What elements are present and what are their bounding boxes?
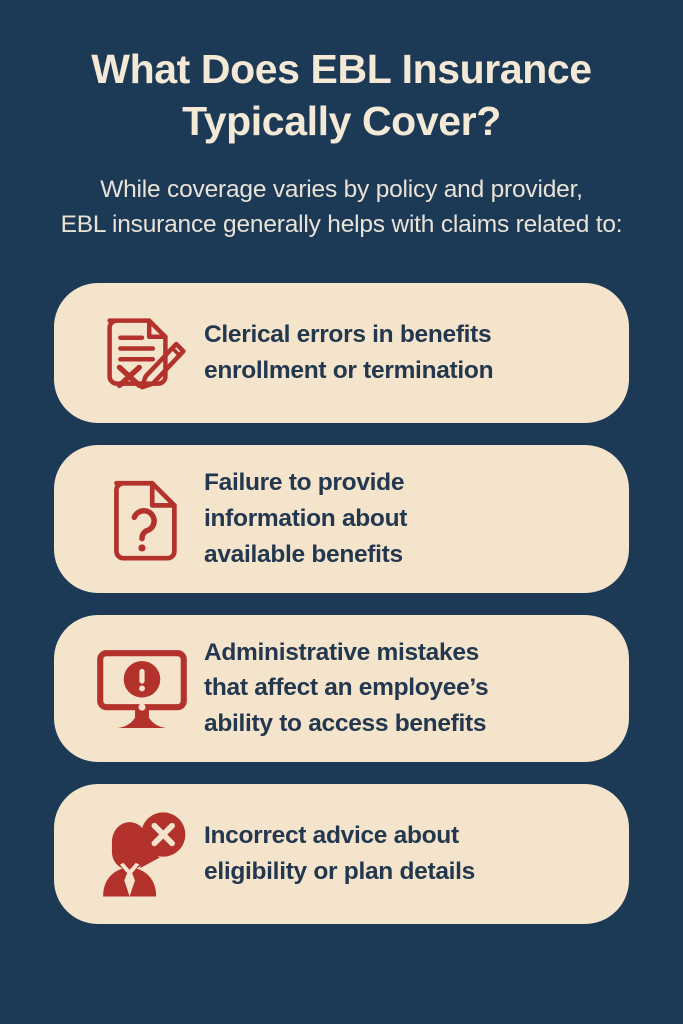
monitor-alert-icon bbox=[94, 640, 190, 736]
page-subtitle: While coverage varies by policy and prov… bbox=[32, 173, 652, 243]
person-speech-error-icon bbox=[94, 806, 190, 902]
coverage-card-text: Clerical errors in benefits enrollment o… bbox=[204, 317, 493, 389]
coverage-card-administrative-mistakes: Administrative mistakes that affect an e… bbox=[54, 615, 629, 762]
coverage-card-failure-to-provide-info: Failure to provide information about ava… bbox=[54, 445, 629, 593]
header: What Does EBL Insurance Typically Cover?… bbox=[0, 0, 683, 243]
coverage-card-list: Clerical errors in benefits enrollment o… bbox=[54, 283, 629, 924]
infographic-poster: What Does EBL Insurance Typically Cover?… bbox=[0, 0, 683, 1024]
coverage-card-clerical-errors: Clerical errors in benefits enrollment o… bbox=[54, 283, 629, 423]
coverage-card-text: Administrative mistakes that affect an e… bbox=[204, 635, 488, 742]
coverage-card-text: Incorrect advice about eligibility or pl… bbox=[204, 818, 475, 890]
document-edit-error-icon bbox=[94, 305, 190, 401]
coverage-card-incorrect-advice: Incorrect advice about eligibility or pl… bbox=[54, 784, 629, 924]
coverage-card-text: Failure to provide information about ava… bbox=[204, 465, 407, 572]
document-question-icon bbox=[94, 471, 190, 567]
page-title: What Does EBL Insurance Typically Cover? bbox=[62, 44, 622, 147]
